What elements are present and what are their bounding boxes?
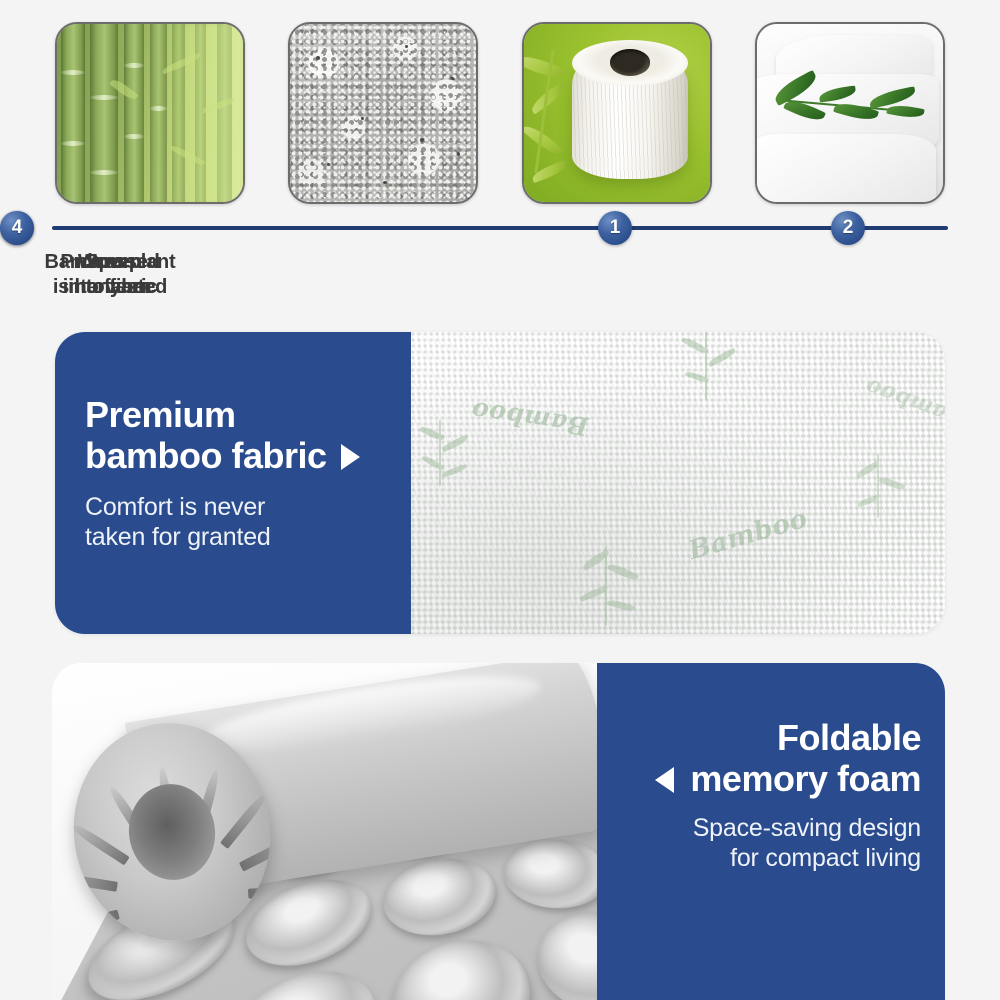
left-triangle-icon bbox=[655, 767, 674, 793]
photo-shading bbox=[411, 332, 945, 634]
fabric-sub-line-1: Comfort is never bbox=[85, 492, 415, 522]
foam-sub-line-1: Space-saving design bbox=[621, 813, 921, 843]
bamboo-process-section: 1 2 3 4 Bamboo plant is harvested Proces… bbox=[0, 0, 1000, 312]
fabric-text-block: Premium bamboo fabric Comfort is never t… bbox=[55, 332, 411, 634]
caption-line-2: into fabric bbox=[0, 275, 220, 300]
fabric-subheading: Comfort is never taken for granted bbox=[85, 492, 415, 552]
fabric-sub-line-2: taken for granted bbox=[85, 522, 415, 552]
process-step-badge-1: 1 bbox=[598, 211, 632, 245]
process-thumbnail-1 bbox=[55, 22, 245, 204]
yarn-spool-photo bbox=[524, 24, 710, 202]
rolled-convoluted-memory-foam bbox=[52, 663, 652, 1000]
bamboo-grove-photo bbox=[57, 24, 243, 202]
premium-bamboo-fabric-panel: Premium bamboo fabric Comfort is never t… bbox=[55, 332, 945, 634]
foam-heading-line-2: memory foam bbox=[690, 758, 921, 799]
process-thumbnail-3 bbox=[522, 22, 712, 204]
foam-sub-line-2: for compact living bbox=[621, 843, 921, 873]
foam-subheading: Space-saving design for compact living bbox=[621, 813, 921, 873]
foam-text-block: Foldable memory foam Space-saving design… bbox=[597, 663, 945, 1000]
fabric-heading-line-1: Premium bbox=[85, 394, 415, 435]
fabric-heading-line-2: bamboo fabric bbox=[85, 435, 327, 476]
process-thumbnail-2 bbox=[288, 22, 478, 204]
foam-heading: Foldable memory foam bbox=[621, 717, 921, 799]
foam-heading-line-1: Foldable bbox=[621, 717, 921, 758]
fabric-heading: Premium bamboo fabric bbox=[85, 394, 415, 476]
process-timeline-line bbox=[52, 226, 948, 230]
process-step-badge-2: 2 bbox=[831, 211, 865, 245]
foldable-memory-foam-panel: Foldable memory foam Space-saving design… bbox=[52, 663, 945, 1000]
process-step-caption-4: Woven into fabric bbox=[0, 250, 220, 300]
process-thumbnail-4 bbox=[755, 22, 945, 204]
bamboo-knit-fabric-closeup: Bamboo Bamboo Bamboo bbox=[411, 332, 945, 634]
right-triangle-icon bbox=[341, 444, 360, 470]
bamboo-leaf-sprig bbox=[772, 77, 928, 138]
caption-line-1: Woven bbox=[0, 250, 220, 275]
woven-fabric-photo bbox=[757, 24, 943, 202]
process-thumbnail-row bbox=[0, 22, 1000, 207]
bamboo-fiber-photo bbox=[290, 24, 476, 202]
process-step-badge-4: 4 bbox=[0, 211, 34, 245]
